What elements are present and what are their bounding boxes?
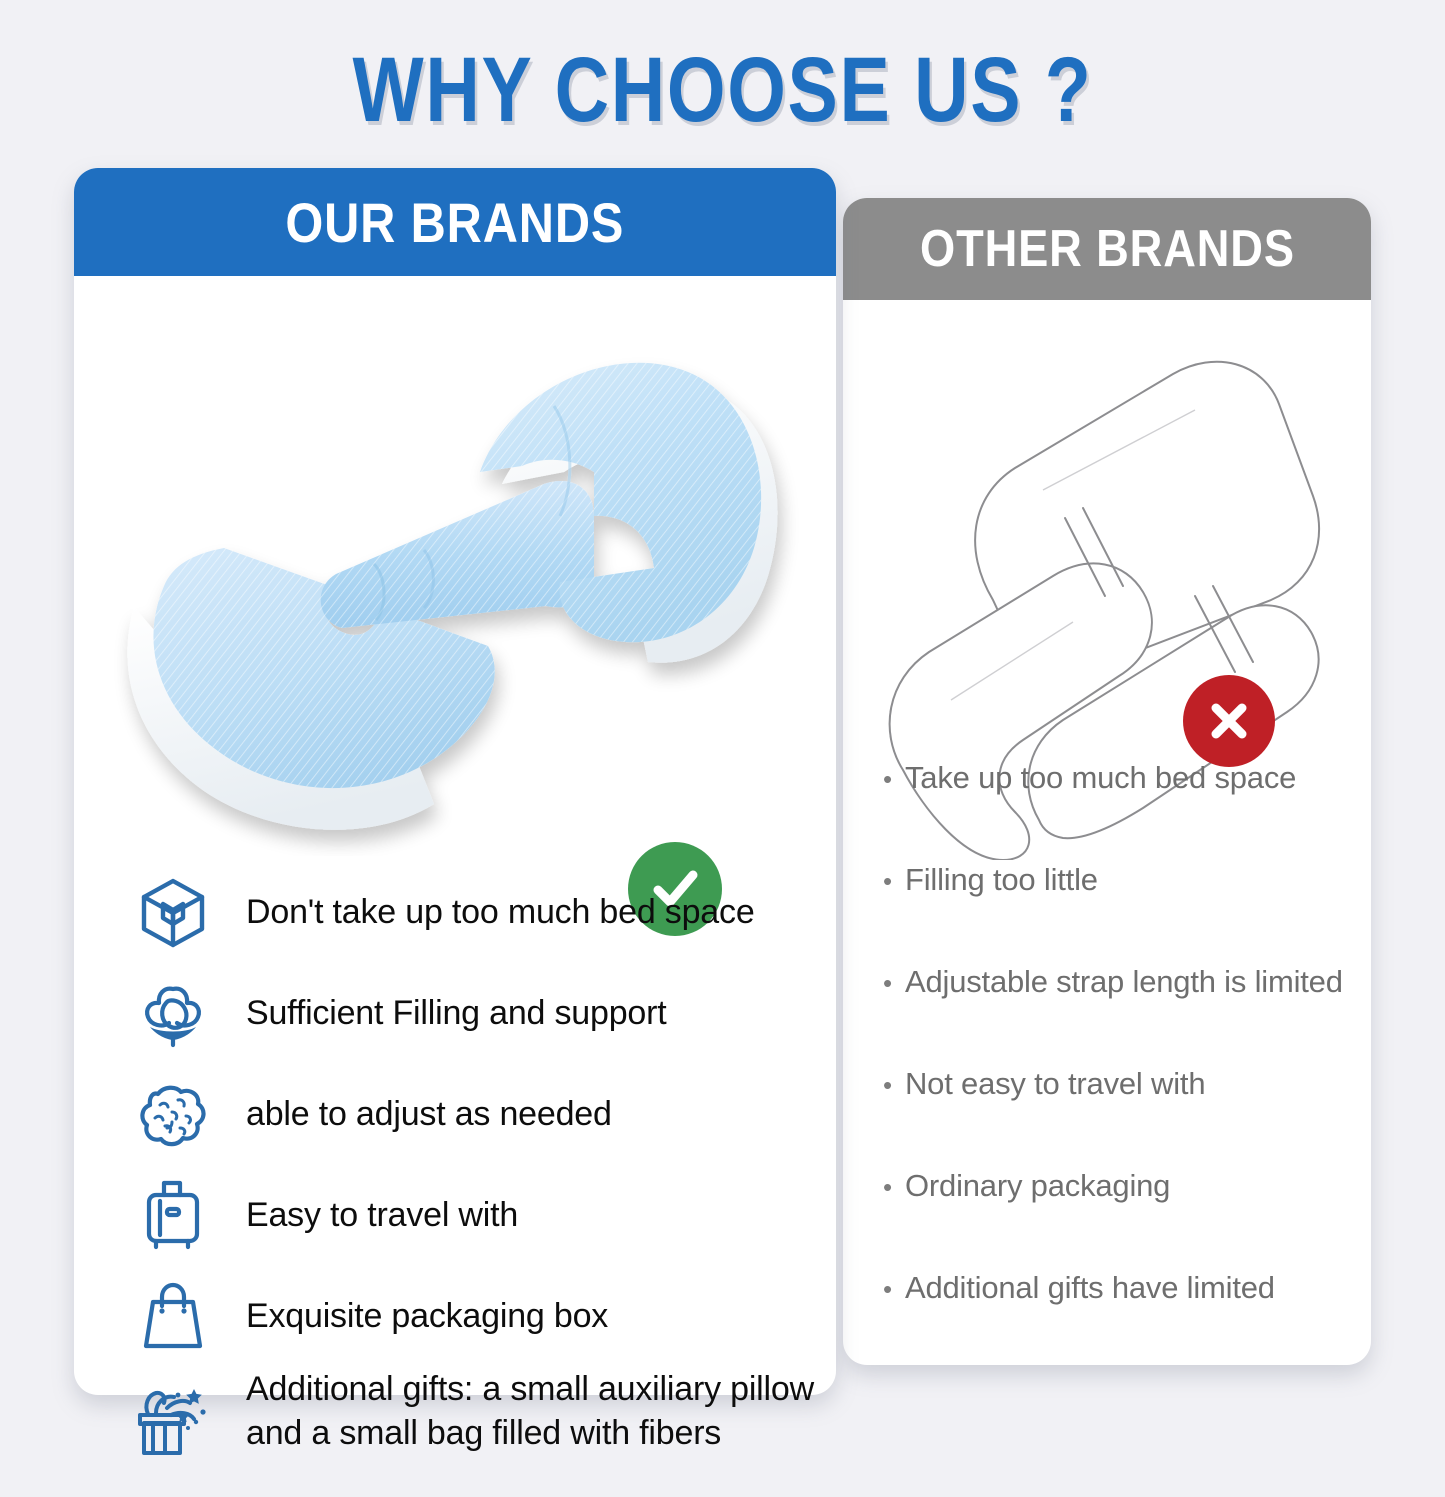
blue-pillow-illustration — [74, 276, 836, 856]
other-brands-card: OTHER BRANDS — [843, 198, 1371, 1365]
feature-label-multiline: Additional gifts: a small auxiliary pill… — [216, 1367, 814, 1455]
bullet-marker: • — [883, 1276, 905, 1302]
feature-label-line2: and a small bag filled with fibers — [246, 1411, 814, 1455]
our-brands-header-label: OUR BRANDS — [286, 190, 625, 255]
feature-item-packaging: Exquisite packaging box — [130, 1266, 830, 1367]
drawback-item: • Not easy to travel with — [883, 1066, 1353, 1168]
other-brands-header: OTHER BRANDS — [843, 198, 1371, 300]
other-brands-drawback-list: • Take up too much bed space • Filling t… — [883, 760, 1353, 1372]
shopping-bag-icon — [130, 1274, 216, 1360]
other-brands-header-label: OTHER BRANDS — [920, 219, 1295, 279]
bullet-marker: • — [883, 1174, 905, 1200]
drawback-label: Ordinary packaging — [905, 1168, 1170, 1204]
cross-badge — [1183, 675, 1275, 767]
feature-label: Easy to travel with — [216, 1193, 518, 1237]
drawback-item: • Ordinary packaging — [883, 1168, 1353, 1270]
bullet-marker: • — [883, 868, 905, 894]
feature-item-filling: Sufficient Filling and support — [130, 963, 830, 1064]
feature-label: able to adjust as needed — [216, 1092, 612, 1136]
drawback-item: • Filling too little — [883, 862, 1353, 964]
suitcase-icon — [130, 1173, 216, 1259]
feature-label: Don't take up too much bed space — [216, 890, 755, 934]
drawback-item: • Adjustable strap length is limited — [883, 964, 1353, 1066]
cross-icon — [1202, 694, 1256, 748]
bullet-marker: • — [883, 970, 905, 996]
drawback-item: • Take up too much bed space — [883, 760, 1353, 862]
drawback-label: Take up too much bed space — [905, 760, 1296, 796]
bullet-marker: • — [883, 766, 905, 792]
feature-item-travel: Easy to travel with — [130, 1165, 830, 1266]
drawback-label: Additional gifts have limited — [905, 1270, 1275, 1306]
drawback-label: Not easy to travel with — [905, 1066, 1205, 1102]
cotton-boll-icon — [130, 971, 216, 1057]
box-cube-icon — [130, 870, 216, 956]
feature-item-adjustable: able to adjust as needed — [130, 1064, 830, 1165]
our-brands-header: OUR BRANDS — [74, 168, 836, 276]
our-brands-card: OUR BRANDS — [74, 168, 836, 1395]
feature-item-bed-space: Don't take up too much bed space — [130, 862, 830, 963]
page-title: WHY CHOOSE US ? — [130, 42, 1315, 139]
feature-label: Exquisite packaging box — [216, 1294, 608, 1338]
our-brands-product-image — [74, 276, 836, 856]
feature-label: Sufficient Filling and support — [216, 991, 667, 1035]
drawback-label: Filling too little — [905, 862, 1098, 898]
fiber-fluff-icon — [130, 1072, 216, 1158]
drawback-label: Adjustable strap length is limited — [905, 964, 1343, 1000]
gift-box-icon — [130, 1377, 216, 1463]
feature-item-gifts: Additional gifts: a small auxiliary pill… — [130, 1367, 830, 1497]
drawback-item: • Additional gifts have limited — [883, 1270, 1353, 1372]
bullet-marker: • — [883, 1072, 905, 1098]
feature-label-line1: Additional gifts: a small auxiliary pill… — [246, 1367, 814, 1411]
our-brands-feature-list: Don't take up too much bed space Suffici… — [130, 862, 830, 1497]
